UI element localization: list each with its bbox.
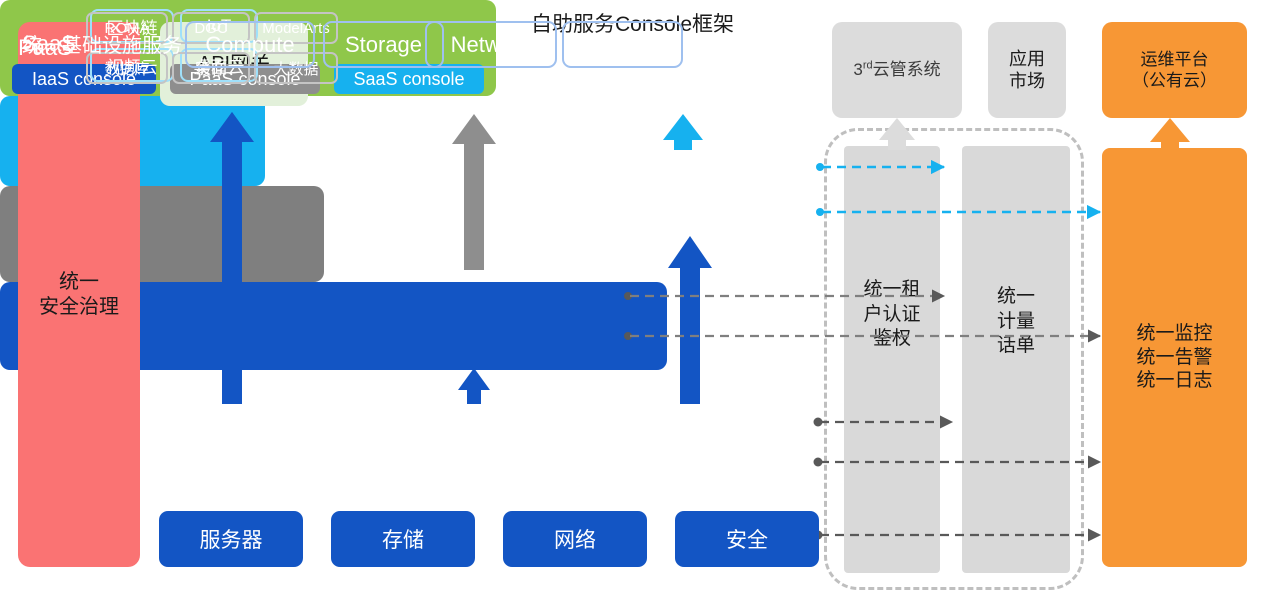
billing-line-1: 统一 [962,285,1070,310]
shared-service-label-billing: 统一 计量 话单 [962,285,1070,359]
arrow-infra-to-saas [668,236,712,404]
third-party-cloud-management-box[interactable]: 3rd云管系统 [832,22,962,118]
app-market-line-2: 市场 [1009,70,1045,93]
auth-line-1: 统一租 [844,278,940,303]
ops-bar-line-1: 统一监控 [1136,322,1212,346]
third-party-prefix: 3 [853,60,862,79]
architecture-diagram: 统一租 户认证 鉴权 统一 计量 话单 [0,0,1265,605]
infra-item-network[interactable]: Network [425,21,557,68]
arrow-ops-bar-to-ops-platform [1150,118,1190,150]
saas-console-button[interactable]: SaaS console [334,64,484,94]
resource-box-server[interactable]: 服务器 [159,511,303,567]
arrow-infra-to-paas [458,368,490,404]
shared-service-label-auth: 统一租 户认证 鉴权 [844,278,940,352]
arrow-paas-to-console [452,114,496,270]
auth-line-3: 鉴权 [844,327,940,352]
resource-box-network[interactable]: 网络 [503,511,647,567]
app-market-box[interactable]: 应用 市场 [988,22,1066,118]
ops-platform-line-2: （公有云） [1132,70,1217,91]
billing-line-3: 话单 [962,334,1070,359]
ops-platform-box[interactable]: 运维平台 （公有云） [1102,22,1247,118]
resource-box-security[interactable]: 安全 [675,511,819,567]
shared-service-column-auth [844,146,940,573]
ops-monitoring-bar[interactable]: 统一监控 统一告警 统一日志 [1102,148,1247,567]
billing-line-2: 计量 [962,310,1070,335]
third-party-sup: rd [863,60,873,72]
ops-bar-line-2: 统一告警 [1136,346,1212,370]
resource-box-storage[interactable]: 存储 [331,511,475,567]
infra-item-cce[interactable]: CCE [562,21,683,68]
auth-line-2: 户认证 [844,303,940,328]
infrastructure-label: 统一基础设施服务 [14,29,190,58]
governance-line-2: 安全治理 [39,295,119,320]
ops-bar-line-3: 统一日志 [1136,369,1212,393]
third-party-suffix: 云管系统 [873,60,941,79]
unified-security-governance-panel[interactable]: 统一 安全治理 [18,22,140,567]
shared-service-column-billing [962,146,1070,573]
governance-line-1: 统一 [39,270,119,295]
infra-item-compute[interactable]: Compute [185,21,315,68]
ops-platform-line-1: 运维平台 [1132,49,1217,70]
app-market-line-1: 应用 [1009,48,1045,71]
third-party-label: 3rd云管系统 [853,59,940,80]
arrow-saas-to-saas-console [663,114,703,150]
